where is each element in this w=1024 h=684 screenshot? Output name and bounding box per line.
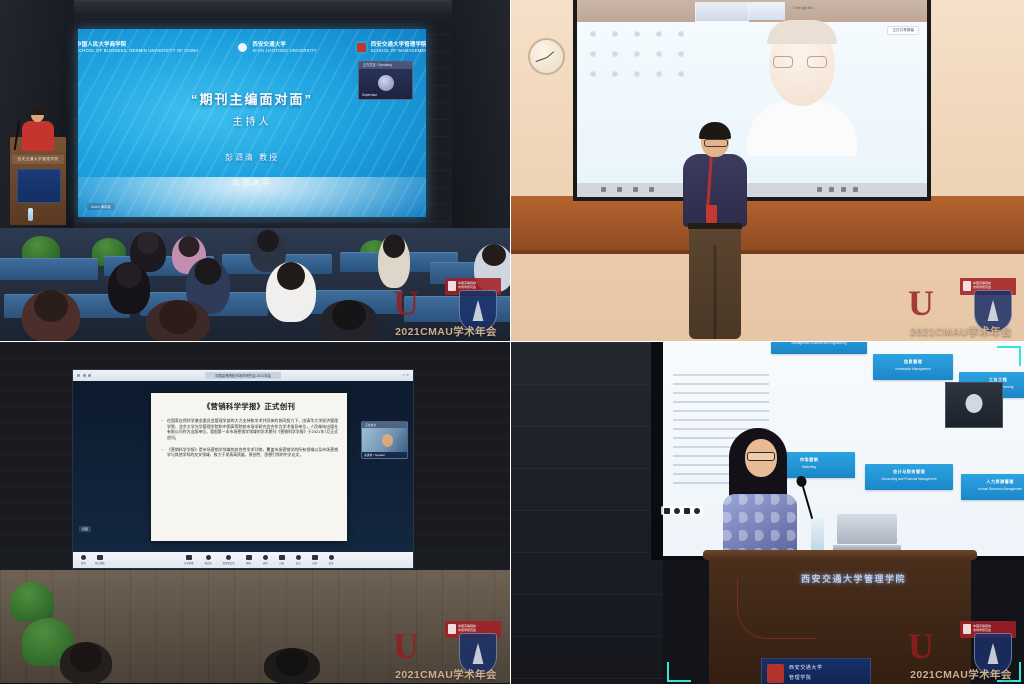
speaker-legs (689, 227, 741, 339)
stop-icon (684, 508, 690, 514)
microphone-icon (81, 555, 86, 560)
end-meeting-icon (329, 555, 334, 560)
belt (688, 223, 742, 229)
panel-bottom-left: 中国高等院校市场学研究会 2021年会 ▭ ✕ 《营销科学学报》正式创刊 在国家… (0, 342, 510, 684)
whiteboard-icon (279, 555, 285, 560)
box-label-en: Accounting and Financial Management (865, 477, 953, 481)
power-icon (694, 508, 700, 514)
pip-name: 演讲者 / Speaker (364, 453, 385, 457)
lectern-poster (17, 169, 61, 203)
pip-avatar-icon (966, 394, 983, 413)
dark-wall (511, 342, 663, 684)
poster-line-1: 西安交通大学 (789, 664, 823, 671)
box-label-cn: 人力资源管理 (961, 479, 1024, 485)
wall-clock-icon (528, 38, 565, 75)
podium-sign: 西安交通大学管理学院 (801, 572, 906, 585)
toolbar-label: 应用 (312, 561, 317, 565)
toolbar-item-participants[interactable]: 参会者 (205, 555, 212, 565)
poster-line-2: 管理学院 (789, 674, 811, 681)
panel-top-left: 中国人民大学商学院 SCHOOL OF BUSINESS, RENMIN UNI… (0, 0, 510, 341)
logo-renmin: 中国人民大学商学院 SCHOOL OF BUSINESS, RENMIN UNI… (78, 41, 198, 54)
projection-screen: Chengli Wu 正在共享屏幕 (577, 0, 927, 197)
glasses-icon (747, 452, 775, 461)
slide-box-1: 信息管理 Information Management (873, 354, 953, 380)
shared-slide-stage: 《营销科学学报》正式创刊 在国家自然科学基金委员会管理学部的大力支持和学术共同体… (73, 381, 413, 552)
record-icon (674, 508, 680, 514)
audience-member (474, 244, 510, 292)
speaker-hair (699, 122, 731, 139)
wood-wainscot (511, 196, 1024, 254)
laptop (833, 514, 901, 552)
led-video-pip (945, 382, 1003, 428)
slide-subtitle: 主持人 (78, 113, 426, 128)
audience-member (22, 290, 80, 341)
slide-background-pattern (587, 28, 697, 88)
reactions-icon (296, 555, 301, 560)
screen-share-status: 正在共享屏幕 (887, 26, 919, 35)
toolbar-label: 静音 (81, 561, 86, 565)
shared-slide: 《营销科学学报》正式创刊 在国家自然科学基金委员会管理学部的大力支持和学术共同体… (151, 393, 347, 541)
panel-bottom-right: 管理科学与工程 Management Science and Engineeri… (511, 342, 1024, 684)
toolbar-label: 停止视频 (95, 561, 105, 565)
box-label-en: Information Management (873, 367, 953, 371)
screen-share-display: 中国高等院校市场学研究会 2021年会 ▭ ✕ 《营销科学学报》正式创刊 在国家… (72, 369, 414, 569)
box-label-cn: 会计与财务管理 (865, 469, 953, 475)
zoom-toolbar-center: 共享屏幕 参会者 管理参会者 聊天 (184, 555, 334, 565)
decor-corner-icon (997, 346, 1021, 366)
box-label-en: Human Resource Management (961, 487, 1024, 491)
toolbar-label: 反应 (296, 561, 301, 565)
window-right-controls[interactable]: ▭ ✕ (402, 373, 409, 377)
video-participant-name: Chengli Wu (793, 5, 814, 10)
video-tile-secondary (749, 2, 785, 20)
pip-name: Supervisor (362, 93, 377, 97)
xjtu-som-logo-icon (355, 41, 368, 54)
toolbar-item-record[interactable]: 录制 (263, 555, 268, 565)
lectern-nameplate-text: 西安交通大学管理学院 (12, 155, 64, 164)
slide-presenter: 彭泗清 教授 (78, 152, 426, 163)
remote-participant-torso (747, 100, 857, 156)
video-tile-primary (695, 2, 749, 22)
participants-icon (206, 555, 211, 560)
xjtu-logo-icon (236, 41, 249, 54)
logo-sub-0: SCHOOL OF BUSINESS, RENMIN UNIVERSITY OF… (78, 48, 198, 53)
zoom-toolbar-left: 静音 停止视频 (81, 555, 105, 565)
screen-share-icon (186, 555, 192, 560)
list-item: 在国家自然科学基金委员会管理学部的大力支持和学术共同体的协同努力下，由清华大学经… (160, 418, 338, 441)
decor-corner-icon (997, 662, 1021, 682)
toolbar-item-manage[interactable]: 管理参会者 (223, 555, 235, 565)
meeting-title: 中国高等院校市场学研究会 2021年会 (205, 372, 281, 379)
glasses-icon (704, 139, 728, 147)
record-icon (263, 555, 268, 560)
pause-icon (664, 508, 670, 514)
video-call-bottombar (577, 183, 927, 197)
slide-logo-row: 中国人民大学商学院 SCHOOL OF BUSINESS, RENMIN UNI… (78, 41, 426, 54)
lectern-nameplate: 西安交通大学管理学院 (12, 155, 64, 164)
pip-avatar-icon (378, 75, 394, 91)
toolbar-label: 聊天 (246, 561, 251, 565)
shared-slide-title: 《营销科学学报》正式创刊 (160, 401, 338, 412)
video-pip-thumbnail: 正在发言 / Speaking Supervisor (358, 61, 413, 100)
audience-member (378, 234, 410, 288)
logo-name-0: 中国人民大学商学院 (78, 42, 198, 49)
window-controls[interactable] (77, 374, 91, 377)
toolbar-label: 结束 (329, 561, 334, 565)
audience-desk (0, 258, 98, 280)
audience-member (264, 648, 320, 684)
name-badge (706, 205, 717, 223)
logo-name-2: 西安交通大学管理学院 (371, 42, 426, 49)
laptop-screen (837, 514, 897, 544)
decor-corner-icon (667, 662, 691, 682)
university-emblem-icon (767, 664, 784, 683)
panel-top-right: Chengli Wu 正在共享屏幕 (511, 0, 1024, 341)
power-cable (737, 578, 816, 639)
speaker-figure (20, 108, 56, 150)
list-item: 《营销科学学报》是市场营销学领域的综合性学术刊物，覆盖市场营销学的所有领域以及市… (160, 447, 338, 458)
slide-box-4: 会计与财务管理 Accounting and Financial Managem… (865, 464, 953, 490)
standing-speaker (679, 125, 751, 341)
ribbon-line-1: 中国高等院校 (973, 624, 991, 628)
manage-participants-icon (226, 555, 231, 560)
toolbar-label: 管理参会者 (223, 561, 235, 565)
toolbar-item-video[interactable]: 停止视频 (95, 555, 105, 565)
toolbar-label: 白板 (279, 561, 284, 565)
lower-wall (511, 250, 1024, 341)
photo-collage: 中国人民大学商学院 SCHOOL OF BUSINESS, RENMIN UNI… (0, 0, 1024, 683)
logo-sub-2: SCHOOL OF MANAGEMENT, XJTU (371, 48, 426, 53)
view-toggle-tag[interactable]: 视图 (79, 526, 91, 532)
toolbar-label: 录制 (263, 561, 268, 565)
audience-member (108, 262, 150, 314)
glasses-icon (807, 56, 827, 68)
water-bottle (28, 208, 33, 221)
podium-lower-poster: 西安交通大学 管理学院 (761, 658, 871, 684)
glasses-icon (773, 56, 793, 68)
box-label-en: Management Science and Engineering (771, 342, 867, 345)
video-pip-thumbnail: 正在发言 演讲者 / Speaker (361, 421, 408, 459)
audience-member (146, 300, 210, 341)
pip-header: 正在发言 / Speaking (359, 62, 412, 69)
toolbar-item-mute[interactable]: 静音 (81, 555, 86, 565)
speaker-torso (22, 121, 54, 151)
box-label-cn: 信息管理 (873, 359, 953, 365)
audience-desk (404, 296, 510, 322)
toolbar-item-reactions[interactable]: 反应 (296, 555, 301, 565)
remote-participant-hair (767, 20, 837, 44)
shared-slide-bullets: 在国家自然科学基金委员会管理学部的大力支持和学术共同体的协同努力下，由清华大学经… (160, 418, 338, 458)
ribbon-line-2: 市场学研究会 (973, 628, 991, 632)
audience-member (320, 300, 378, 341)
toolbar-item-share[interactable]: 共享屏幕 (184, 555, 194, 565)
camera-icon (97, 555, 103, 560)
toolbar-label: 参会者 (205, 561, 212, 565)
screen-control-buttons[interactable] (661, 506, 703, 515)
video-call-topbar: Chengli Wu (577, 0, 927, 22)
logo-sub-1: XI'AN JIAOTONG UNIVERSITY (252, 48, 316, 53)
toolbar-label: 共享屏幕 (184, 561, 194, 565)
window-title-bar: 中国高等院校市场学研究会 2021年会 ▭ ✕ (73, 370, 413, 381)
toolbar-item-apps[interactable]: 应用 (312, 555, 318, 565)
apps-icon (312, 555, 318, 560)
logo-xjtu-som: 西安交通大学管理学院 SCHOOL OF MANAGEMENT, XJTU (355, 41, 426, 54)
wall-right (452, 0, 510, 250)
audience-member (60, 642, 112, 684)
chat-icon (246, 555, 252, 560)
remote-participant-video (747, 24, 857, 152)
pip-avatar-icon (382, 434, 393, 447)
toolbar-item-whiteboard[interactable]: 白板 (279, 555, 285, 565)
slide-corner-tag: Zoom 演讲者 (87, 203, 115, 210)
speaker-hair (30, 107, 45, 115)
slide-organization: 北京大学 (78, 177, 426, 188)
slide-box-0: 管理科学与工程 Management Science and Engineeri… (771, 342, 867, 354)
audience-member (266, 262, 316, 322)
slide-box-5: 人力资源管理 Human Resource Management (961, 474, 1024, 500)
presentation-screen: 中国人民大学商学院 SCHOOL OF BUSINESS, RENMIN UNI… (78, 29, 426, 217)
toolbar-item-end[interactable]: 结束 (329, 555, 334, 565)
potted-plant (10, 582, 54, 622)
pip-video-frame (362, 428, 407, 452)
logo-name-1: 西安交通大学 (252, 42, 316, 49)
podium-top (703, 550, 977, 560)
toolbar-item-chat[interactable]: 聊天 (246, 555, 252, 565)
zoom-toolbar[interactable]: 静音 停止视频 共享屏幕 参会者 (73, 552, 413, 568)
logo-xjtu: 西安交通大学 XI'AN JIAOTONG UNIVERSITY (236, 41, 316, 54)
seal-pagoda-icon (986, 643, 1001, 664)
